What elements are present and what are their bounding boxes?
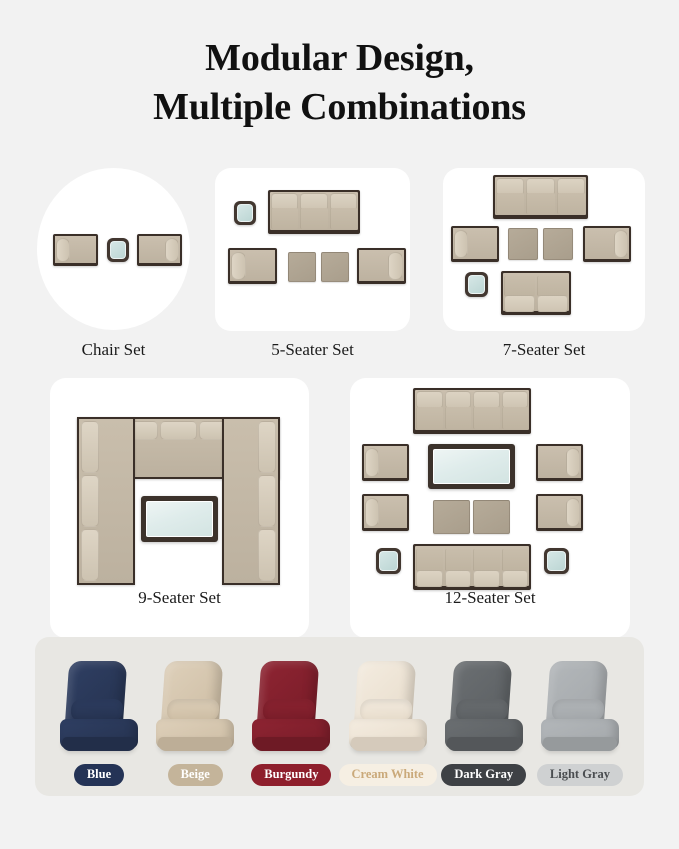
armchair: [137, 234, 182, 266]
ottoman: [473, 500, 510, 534]
side-table: [107, 238, 129, 262]
color-label-blue: Blue: [74, 764, 124, 786]
glass-coffee-table: [428, 444, 515, 489]
product-infographic: { "page": { "background": "#f2f2f2", "ti…: [0, 0, 679, 849]
cushion-seat-base: [543, 737, 617, 751]
set-caption-12-seater-set: 12-Seater Set: [350, 588, 630, 608]
armchair: [451, 226, 499, 262]
four-seat-sofa: [413, 388, 531, 434]
side-table: [376, 548, 401, 574]
cushion-preview: [539, 661, 621, 757]
color-swatch-beige[interactable]: Beige: [149, 651, 241, 786]
color-swatch-light-gray[interactable]: Light Gray: [534, 651, 626, 786]
color-label-burgundy: Burgundy: [251, 764, 331, 786]
set-card-7-seater-set[interactable]: [443, 168, 645, 331]
armchair: [536, 444, 583, 481]
cushion-lumbar: [359, 699, 413, 721]
side-table: [234, 201, 256, 225]
set-card-5-seater-set[interactable]: [215, 168, 410, 331]
set-card-chair-set[interactable]: [37, 168, 190, 330]
cushion-seat-base: [447, 737, 521, 751]
armchair: [53, 234, 98, 266]
page-title-line-1: Modular Design,: [0, 34, 679, 83]
color-swatch-cream-white[interactable]: Cream White: [342, 651, 434, 786]
cushion-lumbar: [263, 699, 317, 721]
color-label-beige: Beige: [168, 764, 223, 786]
armchair: [357, 248, 406, 284]
set-caption-5-seater-set: 5-Seater Set: [215, 340, 410, 360]
three-seat-sofa: [268, 190, 360, 234]
cushion-preview: [443, 661, 525, 757]
cushion-seat-base: [62, 737, 136, 751]
cushion-lumbar: [551, 699, 605, 721]
cushion-preview: [250, 661, 332, 757]
set-caption-9-seater-set: 9-Seater Set: [50, 588, 309, 608]
color-swatch-blue[interactable]: Blue: [53, 651, 145, 786]
color-options-panel: Blue Beige Burgundy: [35, 637, 644, 796]
sectional-left-run: [77, 417, 135, 585]
chair-set-layout: [37, 168, 190, 330]
color-swatch-burgundy[interactable]: Burgundy: [245, 651, 337, 786]
color-label-light-gray: Light Gray: [537, 764, 623, 786]
side-table: [465, 272, 488, 297]
cushion-preview: [347, 661, 429, 757]
cushion-seat-base: [254, 737, 328, 751]
cushion-lumbar: [166, 699, 220, 721]
page-title: Modular Design, Multiple Combinations: [0, 34, 679, 131]
ottoman: [288, 252, 316, 282]
7-seater-layout: [443, 168, 645, 331]
sectional-right-run: [222, 417, 280, 585]
ottoman: [433, 500, 470, 534]
four-seat-sofa: [413, 544, 531, 590]
armchair: [536, 494, 583, 531]
color-swatch-dark-gray[interactable]: Dark Gray: [438, 651, 530, 786]
cushion-lumbar: [455, 699, 509, 721]
color-label-cream-white: Cream White: [339, 764, 437, 786]
color-label-dark-gray: Dark Gray: [441, 764, 526, 786]
armchair: [228, 248, 277, 284]
set-caption-7-seater-set: 7-Seater Set: [443, 340, 645, 360]
cushion-preview: [58, 661, 140, 757]
ottoman: [543, 228, 573, 260]
side-table: [544, 548, 569, 574]
armchair: [362, 444, 409, 481]
cushion-seat-base: [158, 737, 232, 751]
ottoman: [321, 252, 349, 282]
armchair: [362, 494, 409, 531]
glass-coffee-table: [141, 496, 218, 542]
set-caption-chair-set: Chair Set: [37, 340, 190, 360]
page-title-line-2: Multiple Combinations: [0, 83, 679, 132]
cushion-lumbar: [70, 699, 124, 721]
ottoman: [508, 228, 538, 260]
cushion-preview: [154, 661, 236, 757]
5-seater-layout: [215, 168, 410, 331]
two-seat-loveseat: [501, 271, 571, 315]
color-swatch-list: Blue Beige Burgundy: [35, 637, 644, 796]
armchair: [583, 226, 631, 262]
cushion-seat-base: [351, 737, 425, 751]
three-seat-sofa: [493, 175, 588, 219]
